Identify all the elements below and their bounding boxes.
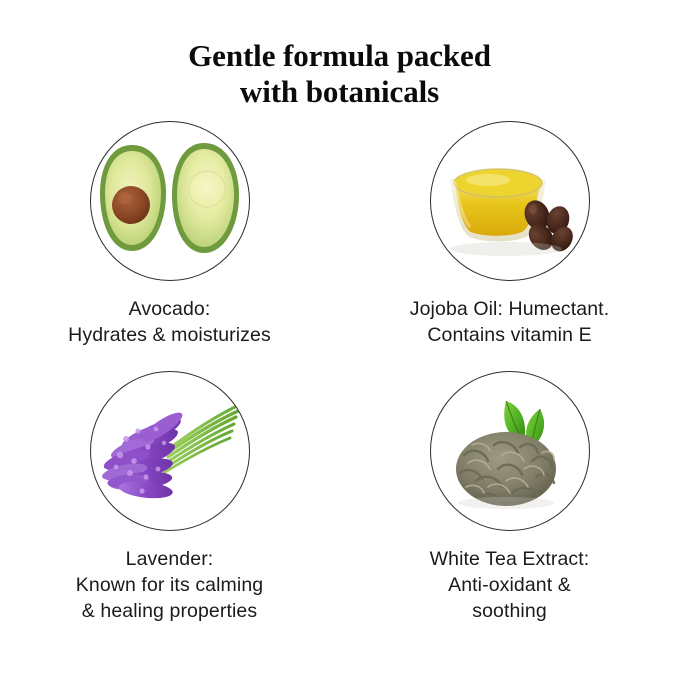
white-tea-caption-line-3: soothing [340, 598, 679, 624]
white-tea-shadow [458, 497, 554, 509]
lavender-icon [96, 377, 244, 525]
jojoba-caption-line-2: Contains vitamin E [340, 322, 679, 348]
jojoba-circle-frame [430, 121, 590, 281]
white-tea-caption: White Tea Extract: Anti-oxidant & soothi… [340, 546, 679, 624]
avocado-caption: Avocado: Hydrates & moisturizes [0, 296, 339, 348]
jojoba-oil-highlight [466, 174, 510, 186]
ingredient-card-jojoba-oil: Jojoba Oil: Humectant. Contains vitamin … [340, 118, 679, 348]
ingredient-card-avocado: Avocado: Hydrates & moisturizes [0, 118, 339, 348]
ingredient-grid: Avocado: Hydrates & moisturizes [0, 118, 679, 663]
avocado-pit-highlight [118, 192, 132, 204]
lavender-caption: Lavender: Known for its calming & healin… [0, 546, 339, 624]
jojoba-circle-wrap [340, 118, 679, 284]
page-title-line-1: Gentle formula packed [0, 38, 679, 74]
avocado-circle-frame [90, 121, 250, 281]
avocado-pit [112, 186, 150, 224]
lavender-circle-frame [90, 371, 250, 531]
white-tea-circle-wrap [340, 368, 679, 534]
page-title: Gentle formula packed with botanicals [0, 38, 679, 110]
white-tea-caption-line-1: White Tea Extract: [340, 546, 679, 572]
ingredient-infographic: Gentle formula packed with botanicals [0, 0, 679, 679]
jojoba-caption-line-1: Jojoba Oil: Humectant. [340, 296, 679, 322]
avocado-icon [96, 127, 244, 275]
jojoba-seed-highlight [529, 204, 537, 214]
jojoba-shadow [450, 242, 562, 256]
lavender-caption-line-3: & healing properties [0, 598, 339, 624]
avocado-caption-line-1: Avocado: [0, 296, 339, 322]
ingredient-card-white-tea: White Tea Extract: Anti-oxidant & soothi… [340, 368, 679, 624]
lavender-circle-wrap [0, 368, 339, 534]
ingredient-card-lavender: Lavender: Known for its calming & healin… [0, 368, 339, 624]
lavender-caption-line-1: Lavender: [0, 546, 339, 572]
page-title-line-2: with botanicals [0, 74, 679, 110]
avocado-caption-line-2: Hydrates & moisturizes [0, 322, 339, 348]
avocado-circle-wrap [0, 118, 339, 284]
white-tea-caption-line-2: Anti-oxidant & [340, 572, 679, 598]
lavender-caption-line-2: Known for its calming [0, 572, 339, 598]
jojoba-oil-icon [436, 127, 584, 275]
white-tea-icon [436, 377, 584, 525]
white-tea-circle-frame [430, 371, 590, 531]
jojoba-caption: Jojoba Oil: Humectant. Contains vitamin … [340, 296, 679, 348]
